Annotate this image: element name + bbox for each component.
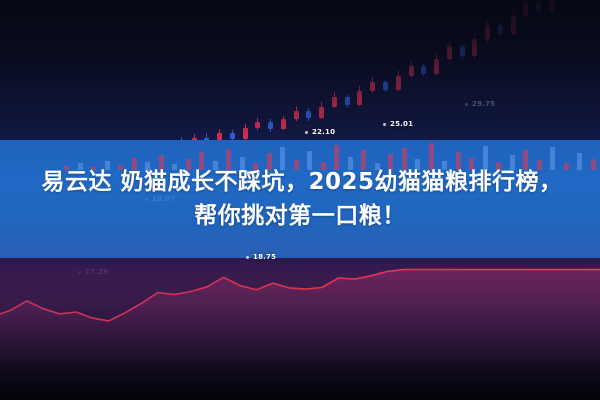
candle-body xyxy=(357,91,362,105)
candle-body xyxy=(383,82,388,89)
candle-body xyxy=(319,107,324,118)
candle-body xyxy=(332,97,337,107)
candle-body xyxy=(447,46,452,58)
headline-line-2: 帮你挑对第一口粮！ xyxy=(194,199,406,233)
candle-body xyxy=(255,122,260,128)
candle-body xyxy=(396,76,401,90)
price-label: 17.28 xyxy=(85,268,108,276)
candle-body xyxy=(421,66,426,73)
candle-body xyxy=(485,25,490,39)
candle-body xyxy=(523,2,528,16)
candle-body xyxy=(268,122,273,129)
candle-body xyxy=(549,0,554,11)
candle-body xyxy=(536,2,541,11)
headline: 易云达 奶猫成长不踩坑，2025幼猫猫粮排行榜， 帮你挑对第一口粮！ xyxy=(0,140,600,258)
price-label: 22.10 xyxy=(312,128,335,136)
candle-body xyxy=(243,128,248,139)
candle-body xyxy=(345,97,350,104)
banner-canvas: 22.1025.0129.7518.0718.7517.28 易云达 奶猫成长不… xyxy=(0,0,600,400)
candle-body xyxy=(230,133,235,139)
candle-body xyxy=(511,16,516,35)
price-label: 29.75 xyxy=(472,100,495,108)
headline-line-1: 易云达 奶猫成长不踩坑，2025幼猫猫粮排行榜， xyxy=(37,165,562,199)
candle-body xyxy=(281,119,286,129)
candle-body xyxy=(370,82,375,91)
candle-body xyxy=(472,39,477,56)
candle-body xyxy=(434,59,439,74)
candle-body xyxy=(460,46,465,56)
candle-body xyxy=(306,111,311,118)
candle-body xyxy=(498,25,503,34)
candle-body xyxy=(409,66,414,76)
candle-body xyxy=(294,111,299,120)
price-label: 25.01 xyxy=(390,120,413,128)
